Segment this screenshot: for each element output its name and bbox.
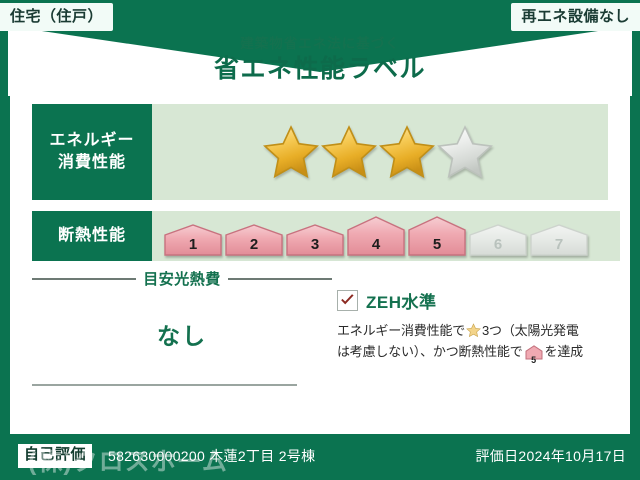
tag-renewable-equipment: 再エネ設備なし: [511, 3, 640, 31]
utility-cost-title: 目安光熱費: [143, 268, 221, 289]
star-filled-icon: [320, 124, 378, 180]
insulation-level-number: 1: [164, 236, 222, 253]
insulation-level-6: 6: [469, 224, 527, 256]
zeh-checkbox[interactable]: [337, 290, 358, 311]
house-level-scale: 1234567: [164, 216, 588, 256]
insulation-level-number: 6: [469, 236, 527, 253]
self-evaluation-badge: 自己評価: [18, 444, 92, 468]
energy-performance-row: エネルギー 消費性能: [32, 104, 608, 200]
utility-cost-heading: 目安光熱費: [32, 268, 332, 289]
star-empty-icon: [436, 124, 494, 180]
inline-star-icon: [466, 323, 481, 338]
star-filled-icon: [262, 124, 320, 180]
energy-performance-rating: [152, 104, 608, 200]
insulation-level-number: 7: [530, 236, 588, 253]
insulation-performance-row: 断熱性能 1234567: [32, 211, 620, 261]
zeh-desc-part3: は考慮しない）、かつ断熱性能で: [337, 344, 523, 359]
insulation-label: 断熱性能: [58, 225, 126, 247]
insulation-performance-label-box: 断熱性能: [32, 211, 152, 261]
rule-right: [228, 278, 332, 280]
label-footer: 自己評価 582630000200 本蓮2丁目 2号棟 評価日2024年10月1…: [0, 434, 640, 480]
inline-house-level: 5: [525, 356, 543, 365]
energy-label-line2: 消費性能: [58, 152, 126, 174]
insulation-level-1: 1: [164, 224, 222, 256]
insulation-level-number: 5: [408, 236, 466, 253]
star-rating: [262, 124, 494, 180]
zeh-block: ZEH水準 エネルギー消費性能で 3つ（太陽光発電 は考慮しない）、かつ断熱性能…: [337, 288, 613, 366]
label-content-panel: エネルギー 消費性能 断熱性能 1234567 目安光熱費 なし: [10, 92, 630, 434]
energy-performance-label: 建築物省エネ法に基づく 省エネ性能ラベル 住宅（住戸） 再エネ設備なし エネルギ…: [0, 0, 640, 480]
rule-left: [32, 278, 136, 280]
zeh-heading: ZEH水準: [337, 288, 613, 313]
zeh-desc-part2: 3つ（太陽光発電: [482, 323, 579, 338]
insulation-level-5: 5: [408, 216, 466, 256]
zeh-desc-part4: を達成: [545, 344, 583, 359]
inline-house-icon: 5: [525, 345, 543, 366]
star-filled-icon: [378, 124, 436, 180]
insulation-level-4: 4: [347, 216, 405, 256]
tag-building-type: 住宅（住戸）: [0, 3, 113, 31]
zeh-description: エネルギー消費性能で 3つ（太陽光発電 は考慮しない）、かつ断熱性能で 5 を達…: [337, 320, 613, 366]
zeh-desc-part1: エネルギー消費性能で: [337, 323, 465, 338]
insulation-level-number: 2: [225, 236, 283, 253]
footer-building-meta: 582630000200 本蓮2丁目 2号棟: [108, 446, 315, 466]
energy-performance-label-box: エネルギー 消費性能: [32, 104, 152, 200]
insulation-level-number: 3: [286, 236, 344, 253]
utility-cost-value: なし: [32, 317, 332, 351]
header-chevron-background: [8, 26, 632, 96]
insulation-performance-rating: 1234567: [152, 211, 620, 261]
insulation-level-3: 3: [286, 224, 344, 256]
utility-cost-block: 目安光熱費 なし: [32, 268, 332, 351]
energy-label-line1: エネルギー: [49, 130, 134, 152]
insulation-level-number: 4: [347, 236, 405, 253]
insulation-level-7: 7: [530, 224, 588, 256]
utility-cost-bottom-rule: [32, 384, 297, 386]
insulation-level-2: 2: [225, 224, 283, 256]
zeh-title: ZEH水準: [366, 288, 437, 313]
evaluation-date: 評価日2024年10月17日: [476, 446, 627, 466]
check-icon: [340, 294, 355, 307]
